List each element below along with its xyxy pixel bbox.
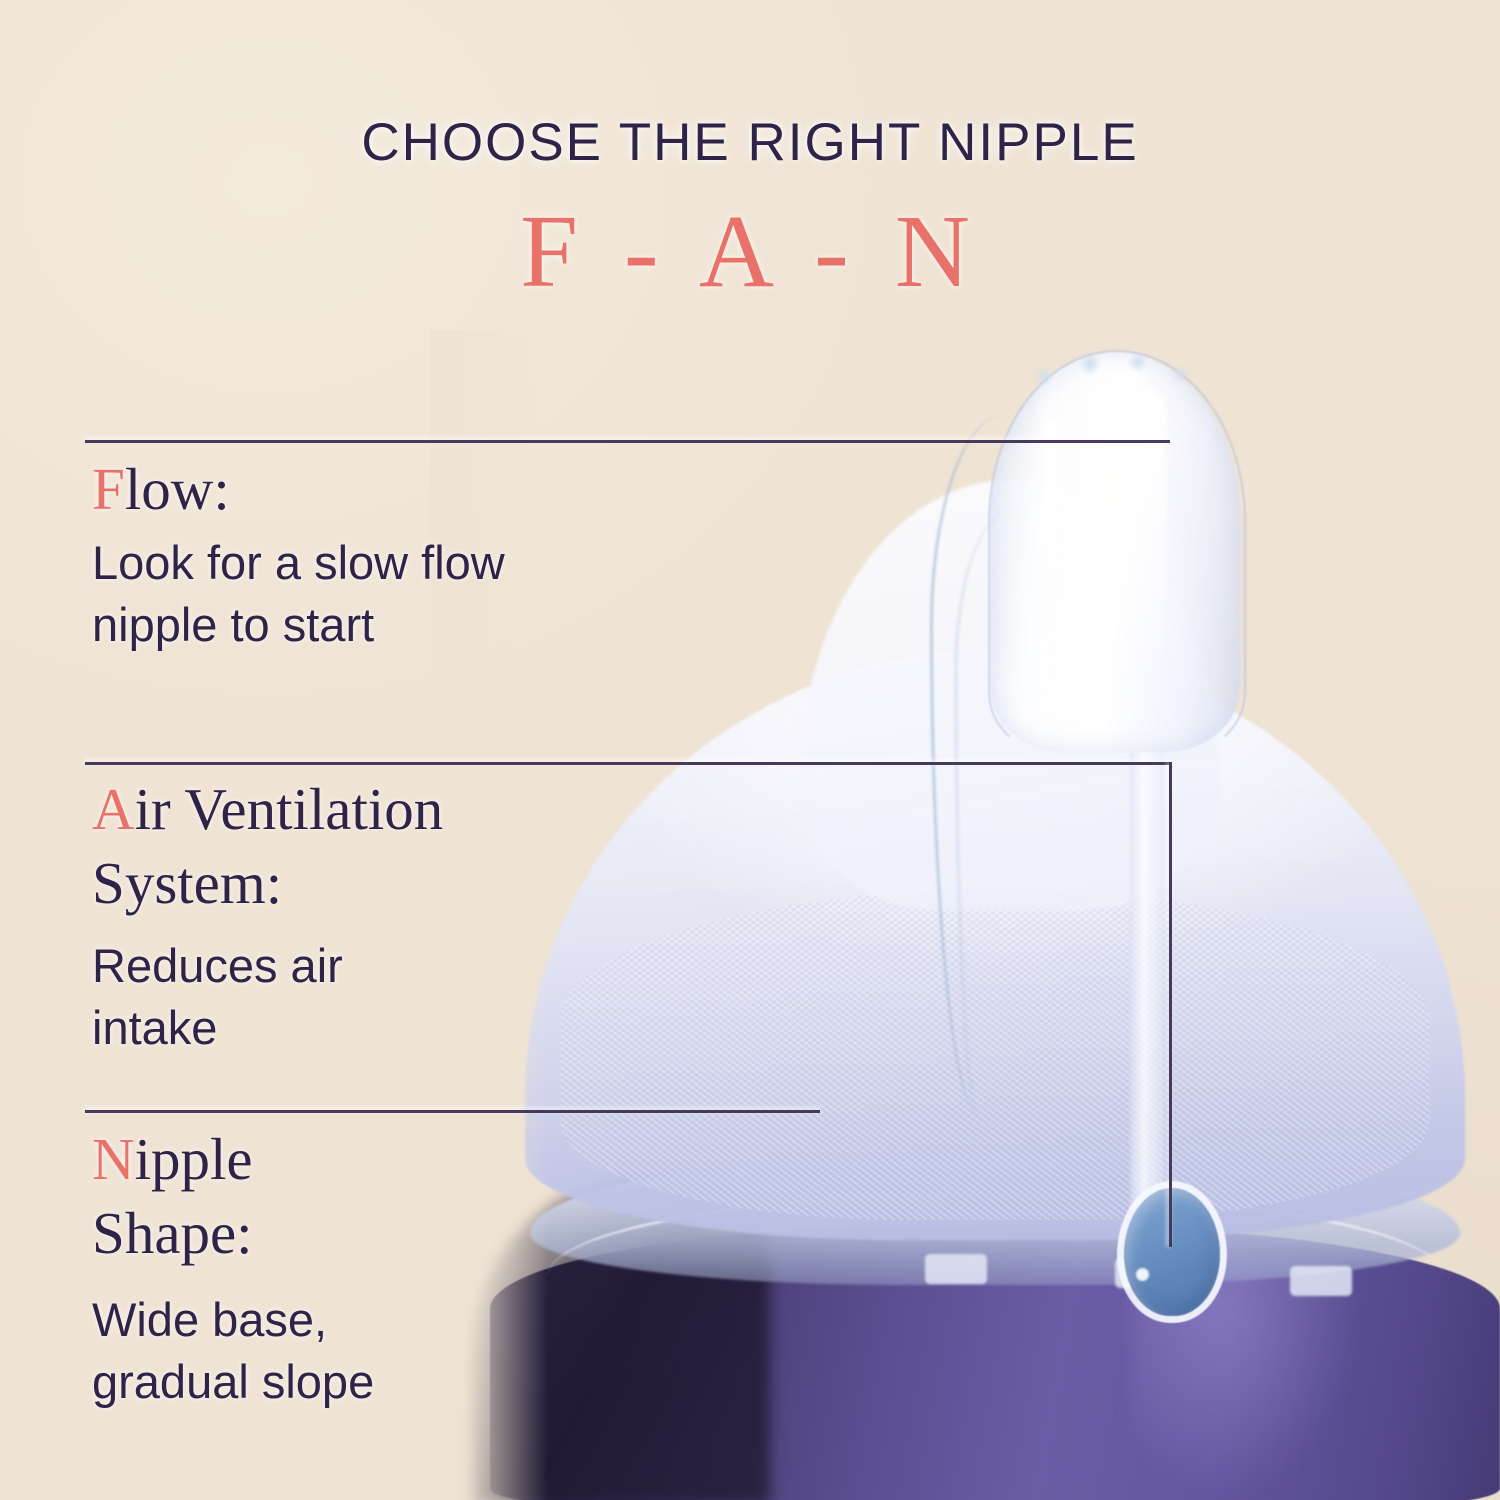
callout-air-ventilation-initial: A bbox=[92, 776, 135, 842]
product-photo bbox=[430, 330, 1500, 1500]
callout-rule-flow bbox=[85, 440, 1170, 443]
callout-rule-air-ventilation bbox=[85, 762, 1172, 765]
collar-tab bbox=[925, 1254, 987, 1284]
callout-air-ventilation-body: Reduces air intake bbox=[92, 935, 443, 1059]
callout-air-ventilation-title: Air Ventilation System: bbox=[92, 772, 443, 921]
callout-nipple-shape-initial: N bbox=[92, 1126, 135, 1192]
callout-nipple-shape-body: Wide base, gradual slope bbox=[92, 1289, 374, 1413]
nipple-tip-nubs bbox=[1022, 350, 1212, 398]
callout-flow-body: Look for a slow flow nipple to start bbox=[92, 532, 505, 656]
nipple-seam-line-secondary bbox=[955, 510, 1037, 1120]
callout-rule-nipple-shape bbox=[85, 1110, 820, 1113]
air-ventilation-valve bbox=[1124, 1188, 1220, 1316]
callout-nipple-shape: Nipple Shape: Wide base, gradual slope bbox=[92, 1122, 374, 1413]
callout-flow: Flow: Look for a slow flow nipple to sta… bbox=[92, 452, 505, 656]
callout-air-ventilation-title-rest: ir Ventilation System: bbox=[92, 776, 443, 916]
acronym-fan: F - A - N bbox=[0, 192, 1500, 311]
page-title: CHOOSE THE RIGHT NIPPLE bbox=[0, 112, 1500, 173]
valve-specular-dot bbox=[1136, 1268, 1149, 1281]
collar-tab bbox=[1290, 1266, 1352, 1296]
infographic-canvas: CHOOSE THE RIGHT NIPPLE F - A - N Flow: … bbox=[0, 0, 1500, 1500]
callout-nipple-shape-title: Nipple Shape: bbox=[92, 1122, 374, 1271]
callout-air-ventilation-system: Air Ventilation System: Reduces air inta… bbox=[92, 772, 443, 1059]
callout-flow-initial: F bbox=[92, 456, 125, 522]
nipple-gloss-highlight bbox=[1120, 388, 1166, 668]
callout-flow-title-rest: low: bbox=[125, 456, 230, 522]
callout-leader-to-vent-valve bbox=[1169, 762, 1172, 1247]
callout-flow-title: Flow: bbox=[92, 452, 505, 526]
